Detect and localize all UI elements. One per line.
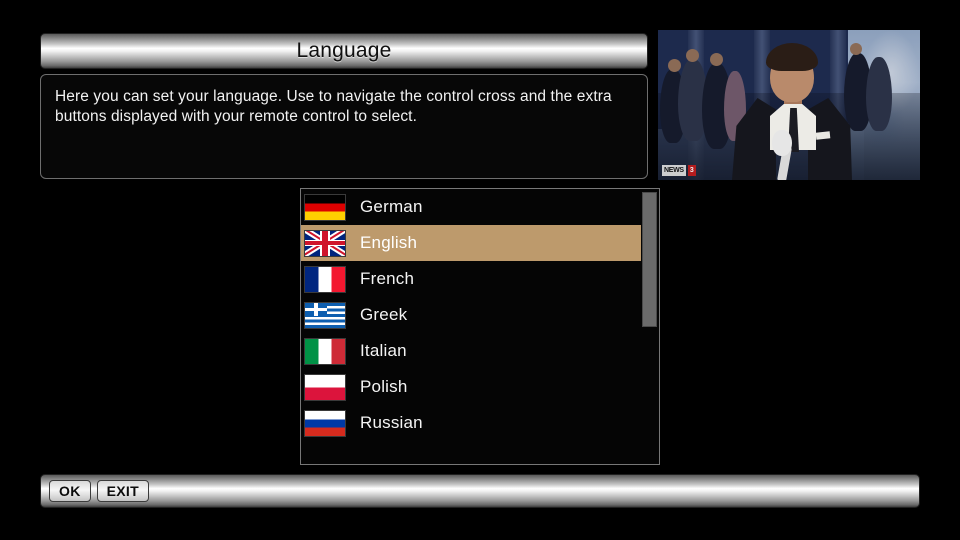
language-label: Italian (360, 341, 407, 361)
language-list-item-greek[interactable]: Greek (301, 297, 641, 333)
flag-united-kingdom-icon (304, 230, 346, 257)
language-list-item-english[interactable]: English (301, 225, 641, 261)
crowd-head (668, 59, 681, 72)
language-list-item-polish[interactable]: Polish (301, 369, 641, 405)
microphone-head (772, 130, 792, 156)
language-label: French (360, 269, 414, 289)
language-label: Polish (360, 377, 408, 397)
language-label: Greek (360, 305, 407, 325)
scrollbar-thumb[interactable] (642, 192, 657, 327)
title-bar: Language (40, 33, 648, 69)
description-box: Here you can set your language. Use to n… (40, 74, 648, 179)
ok-button-label: OK (59, 483, 81, 499)
flag-russia-icon (304, 410, 346, 437)
flag-france-icon (304, 266, 346, 293)
osd-screen: Language Here you can set your language.… (0, 0, 960, 540)
crowd-head (710, 53, 723, 66)
video-preview[interactable]: NEWS 3 (658, 30, 920, 180)
language-list-item-russian[interactable]: Russian (301, 405, 641, 441)
description-text: Here you can set your language. Use to n… (55, 87, 633, 127)
language-list-item-italian[interactable]: Italian (301, 333, 641, 369)
broadcaster-logo-primary: NEWS (662, 165, 686, 176)
flag-poland-icon (304, 374, 346, 401)
video-frame: NEWS 3 (658, 30, 920, 180)
broadcaster-logo-accent: 3 (688, 165, 696, 176)
reporter-pocket-square (816, 131, 831, 139)
scrollbar-track[interactable] (641, 190, 658, 463)
language-label: Russian (360, 413, 423, 433)
broadcaster-logo: NEWS 3 (662, 165, 696, 176)
exit-button-label: EXIT (107, 483, 139, 499)
language-label: English (360, 233, 417, 253)
crowd-head (850, 43, 862, 55)
language-list-panel: German English French (300, 188, 660, 465)
flag-germany-icon (304, 194, 346, 221)
crowd-head (686, 49, 699, 62)
language-list: German English French (301, 189, 641, 441)
language-label: German (360, 197, 423, 217)
exit-button[interactable]: EXIT (97, 480, 149, 502)
language-list-item-german[interactable]: German (301, 189, 641, 225)
ok-button[interactable]: OK (49, 480, 91, 502)
flag-greece-icon (304, 302, 346, 329)
crowd-figure (866, 57, 892, 131)
language-list-item-french[interactable]: French (301, 261, 641, 297)
softkey-bar: OK EXIT (40, 474, 920, 508)
flag-italy-icon (304, 338, 346, 365)
page-title: Language (296, 39, 391, 63)
